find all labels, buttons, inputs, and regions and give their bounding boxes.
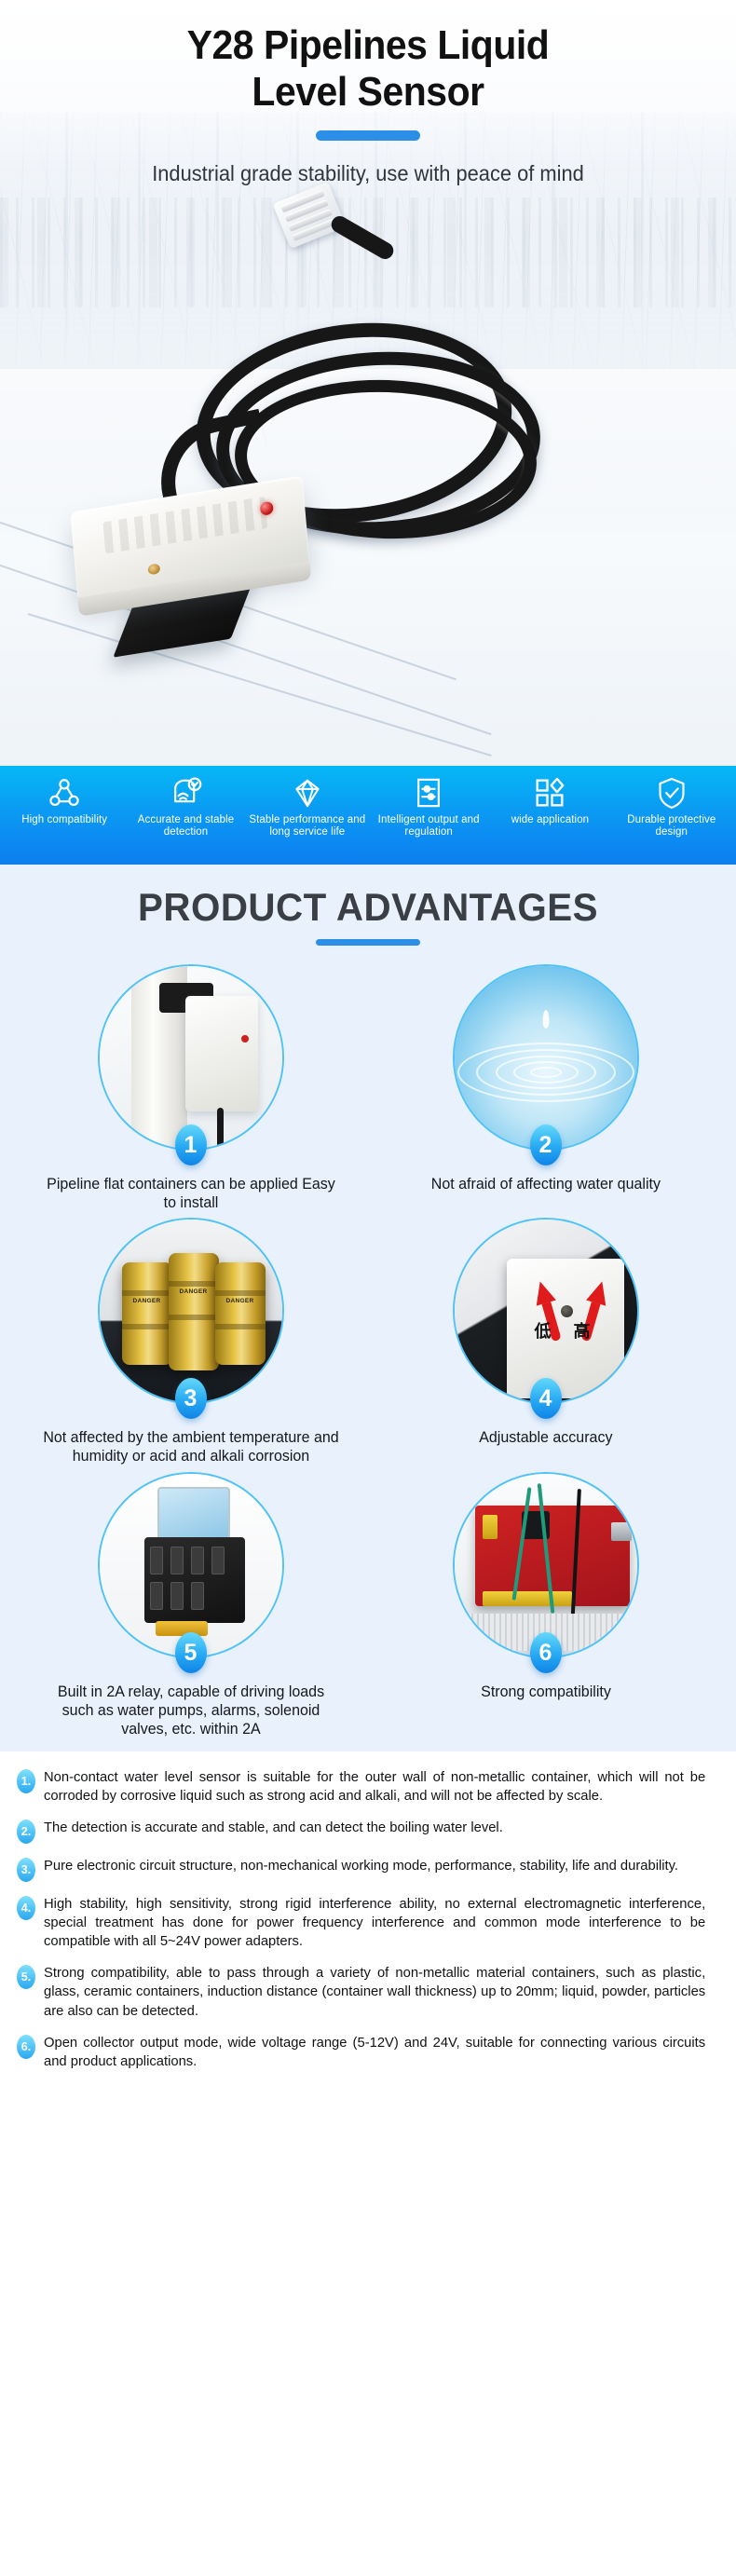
- page-title-line1: Y28 Pipelines Liquid: [187, 22, 550, 68]
- product-advantages-section: PRODUCT ADVANTAGES 1 Pipeline flat conta…: [0, 865, 736, 1751]
- advantage-caption: Not affected by the ambient temperature …: [41, 1428, 339, 1465]
- specifications-list: 1. Non-contact water level sensor is sui…: [0, 1751, 736, 2116]
- spec-item: 5. Strong compatibility, able to pass th…: [17, 1964, 716, 2020]
- barrel-danger-label: DANGER: [133, 1298, 161, 1304]
- diamond-icon: [289, 774, 326, 811]
- advantage-cell-3: DANGER DANGER DANGER 3 Not affected by t…: [13, 1218, 368, 1465]
- page-title: Y28 Pipelines Liquid Level Sensor: [26, 0, 711, 116]
- spec-item: 1. Non-contact water level sensor is sui…: [17, 1768, 716, 1806]
- advantage-image-6: [453, 1472, 639, 1658]
- advantage-image-1: [98, 964, 284, 1151]
- spec-text: Non-contact water level sensor is suitab…: [44, 1768, 705, 1806]
- title-underline-accent: [316, 130, 420, 141]
- spec-number-badge: 4.: [17, 1896, 35, 1920]
- sliders-panel-icon: [410, 774, 447, 811]
- feature-label: wide application: [510, 814, 591, 826]
- spec-number-badge: 5.: [17, 1965, 35, 1989]
- advantage-caption: Adjustable accuracy: [479, 1428, 612, 1447]
- spec-number-badge: 3.: [17, 1858, 35, 1882]
- feature-item-stable-performance: Stable performance and long service life: [247, 774, 368, 839]
- spec-text: The detection is accurate and stable, an…: [44, 1819, 705, 1837]
- advantage-badge: 3: [175, 1378, 207, 1419]
- page-title-line2: Level Sensor: [252, 69, 484, 115]
- advantages-grid: 1 Pipeline flat containers can be applie…: [0, 964, 736, 1738]
- advantage-badge: 5: [175, 1632, 207, 1673]
- advantage-image-2: [453, 964, 639, 1151]
- feature-item-wide-application: wide application: [489, 774, 610, 826]
- advantage-caption: Strong compatibility: [481, 1683, 611, 1701]
- feature-item-durable-protection: Durable protective design: [611, 774, 732, 839]
- advantage-cell-6: 6 Strong compatibility: [368, 1472, 723, 1738]
- feature-label: Stable performance and long service life: [247, 814, 368, 839]
- feature-icon-strip: High compatibility Accurate and stable d…: [0, 766, 736, 865]
- spec-text: Strong compatibility, able to pass throu…: [44, 1964, 705, 2020]
- section-title-underline: [316, 939, 420, 946]
- feature-item-high-compatibility: High compatibility: [4, 774, 125, 826]
- signal-check-icon: [167, 774, 204, 811]
- advantage-image-4: 低 高: [453, 1218, 639, 1404]
- barrel-danger-label: DANGER: [226, 1298, 254, 1304]
- sensor-led-indicator: [260, 501, 274, 516]
- spec-item: 6. Open collector output mode, wide volt…: [17, 2034, 716, 2071]
- section-title: PRODUCT ADVANTAGES: [15, 885, 721, 930]
- spec-text: Open collector output mode, wide voltage…: [44, 2034, 705, 2071]
- advantage-cell-1: 1 Pipeline flat containers can be applie…: [13, 964, 368, 1212]
- spec-number-badge: 2.: [17, 1820, 35, 1844]
- high-label: 高: [574, 1318, 591, 1343]
- advantage-cell-2: 2 Not afraid of affecting water quality: [368, 964, 723, 1212]
- feature-label: Durable protective design: [611, 814, 732, 839]
- advantage-caption: Not afraid of affecting water quality: [430, 1175, 660, 1193]
- advantage-badge: 6: [530, 1632, 562, 1673]
- product-hero-image: [0, 307, 736, 764]
- low-label: 低: [535, 1318, 552, 1343]
- advantage-badge: 1: [175, 1124, 207, 1165]
- advantage-badge: 4: [530, 1378, 562, 1419]
- grid-shapes-icon: [531, 774, 568, 811]
- feature-item-intelligent-output: Intelligent output and regulation: [368, 774, 489, 839]
- shield-check-icon: [653, 774, 690, 811]
- hero-banner: Y28 Pipelines Liquid Level Sensor Indust…: [0, 0, 736, 766]
- feature-label: Intelligent output and regulation: [368, 814, 489, 839]
- advantage-badge: 2: [530, 1124, 562, 1165]
- spec-item: 4. High stability, high sensitivity, str…: [17, 1895, 716, 1951]
- advantage-caption: Built in 2A relay, capable of driving lo…: [41, 1683, 339, 1738]
- advantage-image-5: [98, 1472, 284, 1658]
- sensor-adjust-screw: [147, 563, 160, 575]
- feature-label: Accurate and stable detection: [125, 814, 246, 839]
- molecule-icon: [46, 774, 83, 811]
- feature-item-accurate-detection: Accurate and stable detection: [125, 774, 246, 839]
- feature-label: High compatibility: [20, 814, 109, 826]
- spec-number-badge: 1.: [17, 1769, 35, 1793]
- advantage-cell-5: 5 Built in 2A relay, capable of driving …: [13, 1472, 368, 1738]
- advantage-cell-4: 低 高 4 Adjustable accuracy: [368, 1218, 723, 1465]
- barrel-danger-label: DANGER: [180, 1288, 208, 1295]
- spec-number-badge: 6.: [17, 2035, 35, 2059]
- spec-text: High stability, high sensitivity, strong…: [44, 1895, 705, 1951]
- spec-text: Pure electronic circuit structure, non-m…: [44, 1857, 705, 1875]
- spec-item: 2. The detection is accurate and stable,…: [17, 1819, 716, 1844]
- advantage-image-3: DANGER DANGER DANGER: [98, 1218, 284, 1404]
- advantage-caption: Pipeline flat containers can be applied …: [41, 1175, 339, 1212]
- spec-item: 3. Pure electronic circuit structure, no…: [17, 1857, 716, 1882]
- sensor-body: [70, 475, 309, 601]
- sensor-label-emboss: [102, 497, 267, 553]
- page-subtitle: Industrial grade stability, use with pea…: [19, 161, 718, 186]
